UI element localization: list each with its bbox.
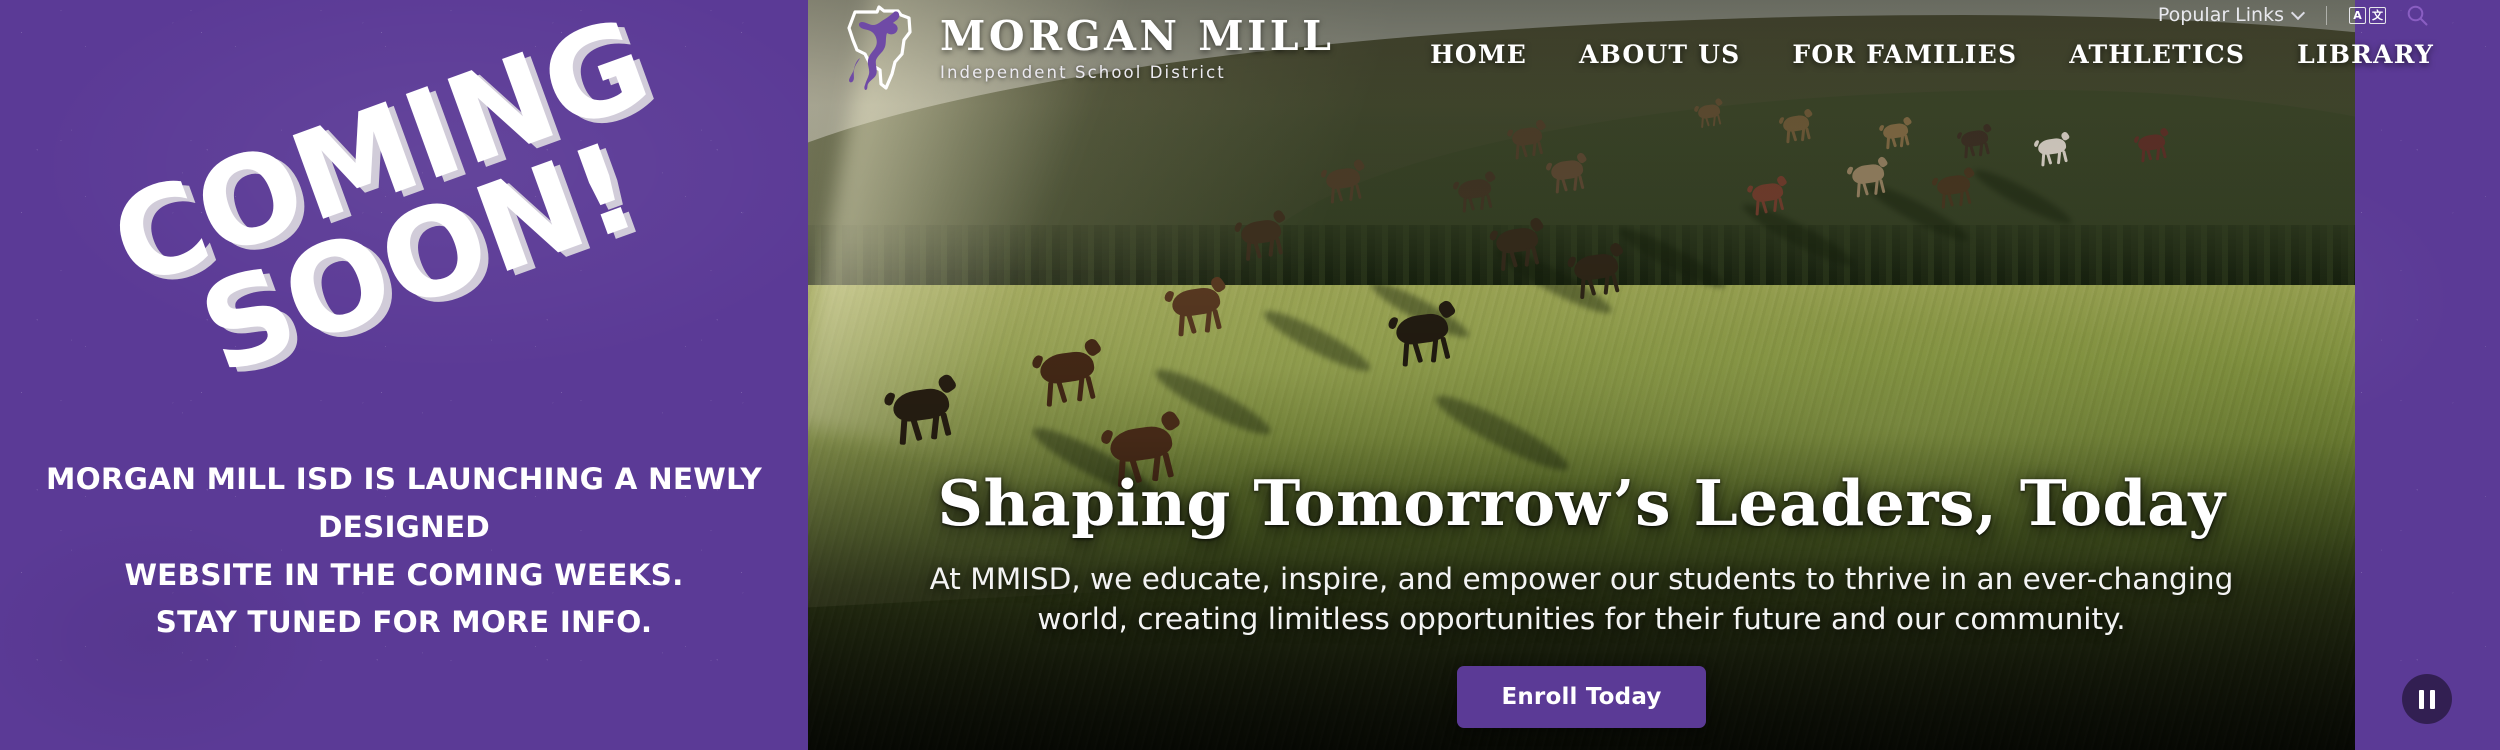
popular-links-dropdown[interactable]: Popular Links — [2158, 4, 2322, 26]
popular-links-label: Popular Links — [2158, 4, 2284, 26]
main-navigation: HOME ABOUT US FOR FAMILIES ATHLETICS LIB… — [1404, 40, 2434, 69]
logo-text: MORGAN MILL Independent School District — [940, 16, 1334, 82]
hero-banner — [808, 0, 2355, 750]
nav-item-athletics[interactable]: ATHLETICS — [2043, 40, 2271, 69]
announcement-body: MORGAN MILL ISD IS LAUNCHING A NEWLY DES… — [0, 456, 808, 647]
texas-outline-mustang-icon — [840, 2, 924, 94]
enroll-today-button[interactable]: Enroll Today — [1457, 666, 1705, 728]
announcement-body-line-1: MORGAN MILL ISD IS LAUNCHING A NEWLY DES… — [16, 456, 792, 552]
coming-soon-graphic: COMING SOON! — [0, 0, 808, 430]
search-icon[interactable] — [2406, 4, 2428, 26]
page-root: COMING SOON! MORGAN MILL ISD IS LAUNCHIN… — [0, 0, 2500, 750]
pause-bar-left — [2419, 690, 2424, 709]
pause-bar-right — [2430, 690, 2435, 709]
translate-cjk-glyph: 文 — [2369, 7, 2386, 24]
translate-icon[interactable]: A 文 — [2349, 7, 2406, 24]
nav-item-for-families[interactable]: FOR FAMILIES — [1766, 40, 2043, 69]
nav-item-about-us[interactable]: ABOUT US — [1553, 40, 1766, 69]
chevron-down-icon — [2293, 8, 2304, 19]
hero-background-image — [808, 0, 2355, 750]
translate-latin-glyph: A — [2349, 7, 2366, 24]
utility-bar: Popular Links A 文 — [2158, 0, 2428, 30]
brand-name: MORGAN MILL — [940, 16, 1334, 57]
utility-divider — [2326, 6, 2327, 25]
announcement-body-line-3: STAY TUNED FOR MORE INFO. — [16, 599, 792, 647]
horse-herd — [808, 0, 2355, 750]
announcement-panel: COMING SOON! MORGAN MILL ISD IS LAUNCHIN… — [0, 0, 808, 750]
site-logo[interactable]: MORGAN MILL Independent School District — [840, 0, 1334, 96]
nav-item-library[interactable]: LIBRARY — [2271, 40, 2434, 69]
pause-icon[interactable] — [2402, 674, 2452, 724]
announcement-body-line-2: WEBSITE IN THE COMING WEEKS. — [16, 552, 792, 600]
brand-tagline: Independent School District — [940, 65, 1334, 82]
nav-item-home[interactable]: HOME — [1404, 40, 1553, 69]
